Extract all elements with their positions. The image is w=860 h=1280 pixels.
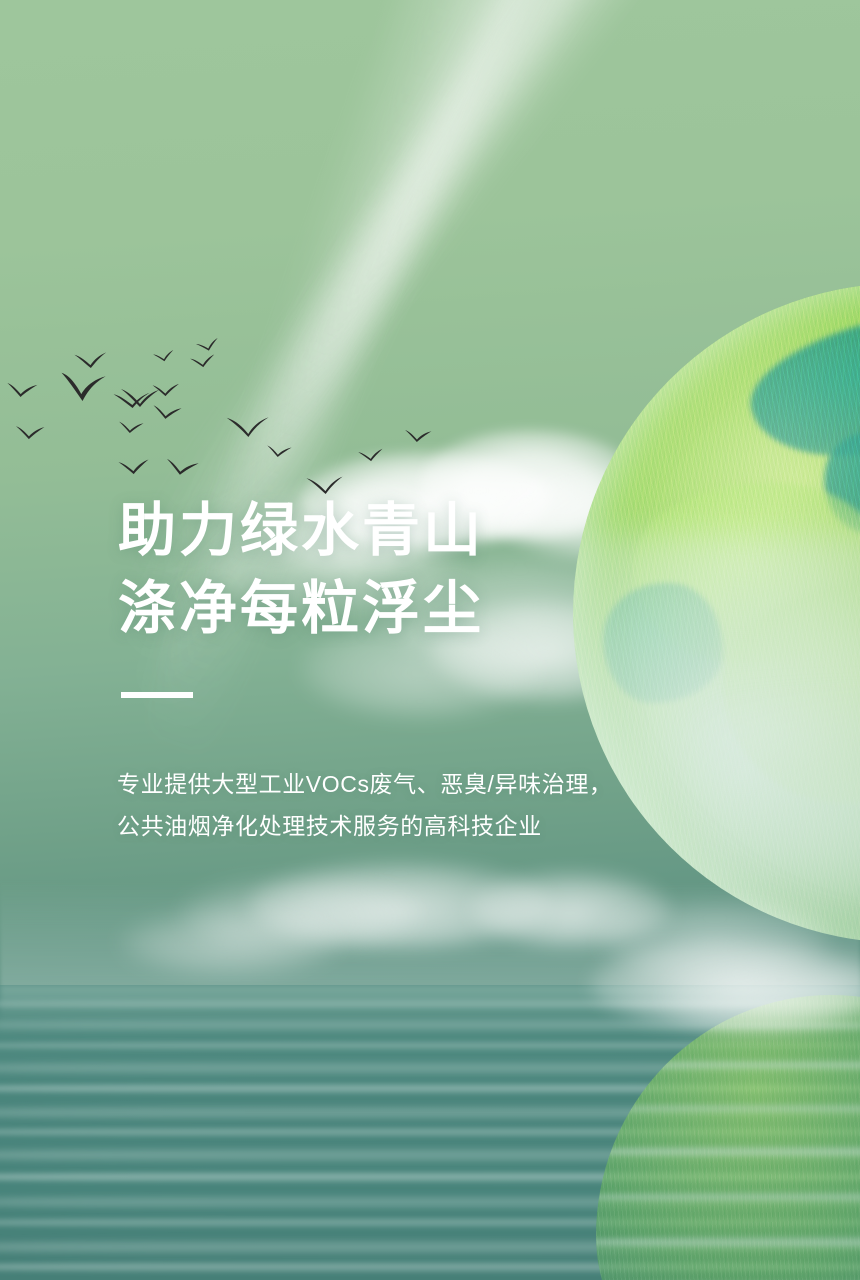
flying-bird-silhouette	[226, 413, 271, 439]
flying-bird-silhouette	[265, 443, 292, 459]
flying-bird-silhouette	[59, 369, 108, 403]
page-title: 助力绿水青山 涤净每粒浮尘	[118, 492, 484, 648]
flying-bird-silhouette	[195, 335, 222, 355]
poster-canvas: 助力绿水青山 涤净每粒浮尘 专业提供大型工业VOCs废气、恶臭/异味治理， 公共…	[0, 0, 860, 1280]
subtitle: 专业提供大型工业VOCs废气、恶臭/异味治理， 公共油烟净化处理技术服务的高科技…	[117, 763, 613, 847]
bird-flock	[0, 330, 520, 460]
globe-water-reflection	[596, 995, 860, 1280]
flying-bird-silhouette	[152, 381, 181, 397]
flying-bird-silhouette	[5, 380, 38, 399]
flying-bird-silhouette	[404, 427, 433, 443]
flying-bird-silhouette	[151, 402, 183, 421]
flying-bird-silhouette	[14, 423, 47, 440]
subtitle-line-1: 专业提供大型工业VOCs废气、恶臭/异味治理，	[117, 763, 613, 805]
subtitle-line-2: 公共油烟净化处理技术服务的高科技企业	[117, 805, 613, 847]
cloud	[120, 910, 340, 974]
flying-bird-silhouette	[118, 419, 145, 435]
headline-line-2: 涤净每粒浮尘	[118, 570, 484, 648]
flying-bird-silhouette	[189, 352, 217, 370]
flying-bird-silhouette	[152, 348, 176, 364]
flying-bird-silhouette	[117, 457, 150, 477]
flying-bird-silhouette	[73, 349, 109, 370]
white-rule-divider	[121, 692, 193, 698]
headline-line-1: 助力绿水青山	[118, 492, 484, 570]
